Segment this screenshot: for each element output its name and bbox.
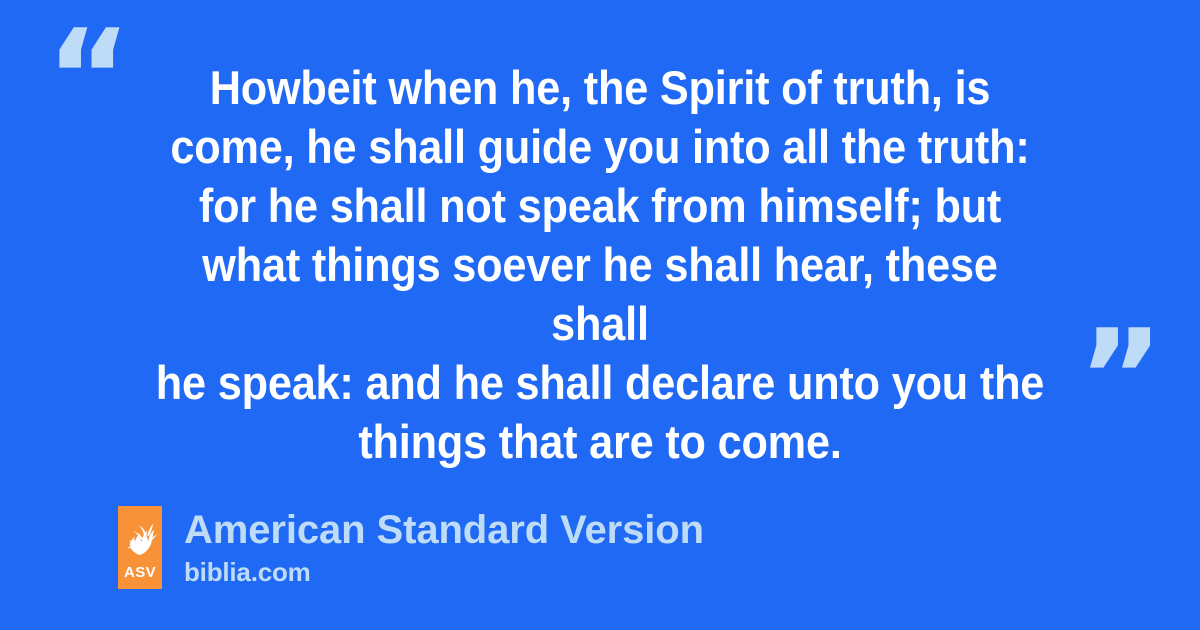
verse-text: Howbeit when he, the Spirit of truth, is… (149, 58, 1051, 471)
attribution: ASV American Standard Version biblia.com (118, 506, 704, 589)
bible-version-name: American Standard Version (184, 508, 704, 552)
flame-icon (123, 518, 157, 556)
asv-logo: ASV (118, 506, 162, 589)
closing-quote-icon: ” (1078, 312, 1163, 442)
site-url[interactable]: biblia.com (184, 557, 704, 587)
logo-abbreviation: ASV (118, 565, 162, 580)
attribution-text: American Standard Version biblia.com (184, 506, 704, 587)
verse-block: Howbeit when he, the Spirit of truth, is… (110, 58, 1090, 471)
verse-image-card: “ Howbeit when he, the Spirit of truth, … (0, 0, 1200, 630)
